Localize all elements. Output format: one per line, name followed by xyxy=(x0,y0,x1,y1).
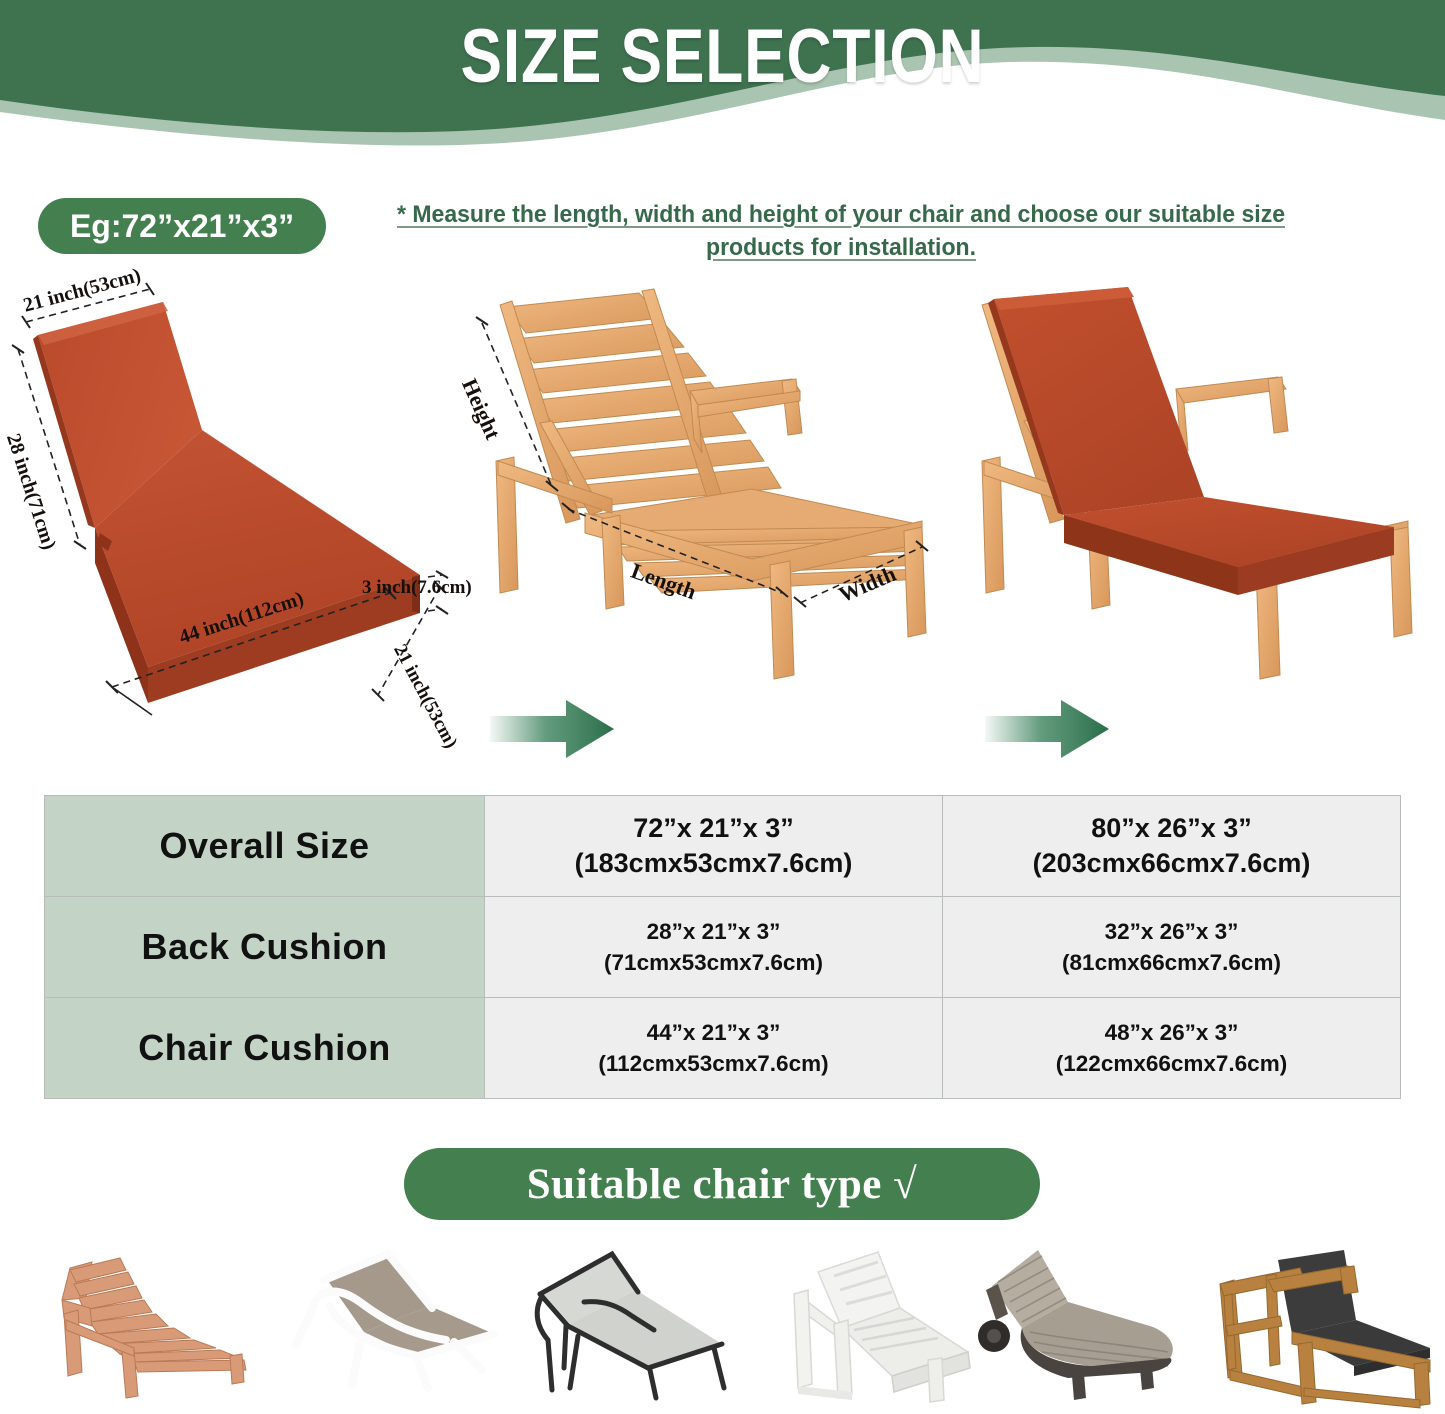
value-inches: 32”x 26”x 3” xyxy=(951,916,1392,947)
infographic-page: SIZE SELECTION Eg:72”x21”x3” * Measure t… xyxy=(0,0,1445,1414)
size-spec-table: Overall Size 72”x 21”x 3” (183cmx53cmx7.… xyxy=(44,795,1401,1099)
table-row: Back Cushion 28”x 21”x 3” (71cmx53cmx7.6… xyxy=(45,897,1401,998)
right-arrow-icon xyxy=(490,698,614,760)
right-arrow-icon xyxy=(985,698,1109,760)
thumb-wooden-slat-lounger xyxy=(34,1248,274,1414)
wood-frame-dark-sling-lounger-icon xyxy=(1208,1248,1445,1414)
row-label-back-cushion: Back Cushion xyxy=(45,897,485,998)
arrow-step-2 xyxy=(985,698,1109,760)
suitable-chair-type-banner: Suitable chair type √ xyxy=(404,1148,1040,1220)
note-line-2: products for installation. xyxy=(706,234,976,261)
chair-with-cushion-diagram xyxy=(938,275,1438,765)
value-cm: (71cmx53cmx7.6cm) xyxy=(493,947,934,978)
value-inches: 48”x 26”x 3” xyxy=(951,1017,1392,1048)
lounger-with-cushion-illustration xyxy=(938,275,1438,695)
bare-chair-diagram: Height Length Width xyxy=(452,275,952,765)
cell-back-cushion-small: 28”x 21”x 3” (71cmx53cmx7.6cm) xyxy=(485,897,943,998)
value-cm: (203cmx66cmx7.6cm) xyxy=(951,846,1392,881)
value-inches: 28”x 21”x 3” xyxy=(493,916,934,947)
cell-chair-cushion-small: 44”x 21”x 3” (112cmx53cmx7.6cm) xyxy=(485,998,943,1099)
value-cm: (183cmx53cmx7.6cm) xyxy=(493,846,934,881)
row-label-overall-size: Overall Size xyxy=(45,796,485,897)
measure-instruction-note: * Measure the length, width and height o… xyxy=(395,198,1288,264)
white-aluminum-sling-lounger-icon xyxy=(268,1248,508,1414)
row-label-chair-cushion: Chair Cushion xyxy=(45,998,485,1099)
value-inches: 72”x 21”x 3” xyxy=(493,811,934,846)
example-size-badge: Eg:72”x21”x3” xyxy=(38,198,326,254)
arrow-step-1 xyxy=(490,698,614,760)
cell-chair-cushion-large: 48”x 26”x 3” (122cmx66cmx7.6cm) xyxy=(943,998,1401,1099)
header-banner: SIZE SELECTION xyxy=(0,0,1445,185)
cell-back-cushion-large: 32”x 26”x 3” (81cmx66cmx7.6cm) xyxy=(943,897,1401,998)
value-inches: 44”x 21”x 3” xyxy=(493,1017,934,1048)
thumb-white-aluminum-sling-lounger xyxy=(268,1248,508,1414)
table-row: Overall Size 72”x 21”x 3” (183cmx53cmx7.… xyxy=(45,796,1401,897)
wooden-lounger-illustration xyxy=(452,275,952,695)
value-inches: 80”x 26”x 3” xyxy=(951,811,1392,846)
white-plastic-lounger-icon xyxy=(742,1248,982,1414)
thumb-grey-wicker-lounger xyxy=(972,1248,1212,1414)
value-cm: (112cmx53cmx7.6cm) xyxy=(493,1048,934,1079)
wooden-slat-lounger-icon xyxy=(34,1248,274,1414)
thumb-wood-frame-dark-sling-lounger xyxy=(1208,1248,1445,1414)
cell-overall-size-large: 80”x 26”x 3” (203cmx66cmx7.6cm) xyxy=(943,796,1401,897)
table-row: Chair Cushion 44”x 21”x 3” (112cmx53cmx7… xyxy=(45,998,1401,1099)
note-line-1: * Measure the length, width and height o… xyxy=(397,201,1285,228)
page-title: SIZE SELECTION xyxy=(130,14,1315,100)
cushion-dimension-diagram: 21 inch(53cm) 28 inch(71cm) 44 inch(112c… xyxy=(0,275,480,765)
grey-wicker-lounger-icon xyxy=(972,1248,1212,1414)
cell-overall-size-small: 72”x 21”x 3” (183cmx53cmx7.6cm) xyxy=(485,796,943,897)
value-cm: (122cmx66cmx7.6cm) xyxy=(951,1048,1392,1079)
value-cm: (81cmx66cmx7.6cm) xyxy=(951,947,1392,978)
diagram-row: 21 inch(53cm) 28 inch(71cm) 44 inch(112c… xyxy=(0,275,1445,765)
thumb-white-plastic-lounger xyxy=(742,1248,982,1414)
thumb-black-frame-sling-lounger xyxy=(508,1248,748,1414)
black-frame-sling-lounger-icon xyxy=(508,1248,748,1414)
suitable-chair-thumbnails xyxy=(0,1248,1445,1414)
